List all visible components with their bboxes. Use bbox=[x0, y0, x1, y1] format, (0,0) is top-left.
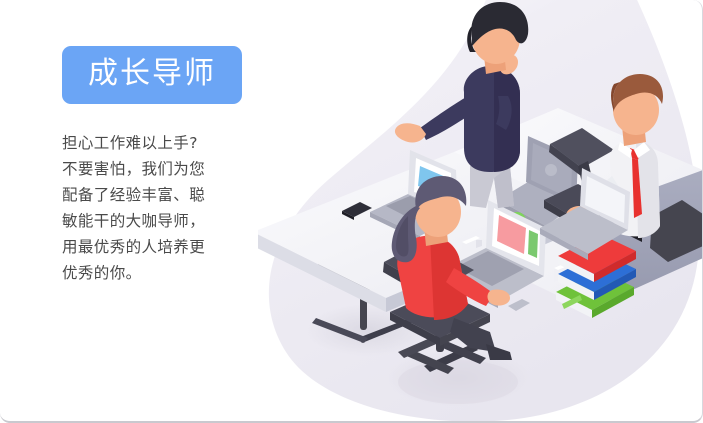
description-line: 担心工作难以上手? bbox=[62, 130, 247, 156]
description-line: 敏能干的大咖导师， bbox=[62, 208, 247, 234]
description-text: 担心工作难以上手? 不要害怕，我们为您 配备了经验丰富、聪 敏能干的大咖导师， … bbox=[62, 130, 247, 286]
promo-card: 成长导师 担心工作难以上手? 不要害怕，我们为您 配备了经验丰富、聪 敏能干的大… bbox=[0, 0, 703, 423]
description-line: 优秀的你。 bbox=[62, 260, 247, 286]
page-title-badge: 成长导师 bbox=[62, 46, 242, 104]
description-line: 用最优秀的人培养更 bbox=[62, 234, 247, 260]
illustration-isometric-office bbox=[258, 0, 703, 423]
text-column: 成长导师 担心工作难以上手? 不要害怕，我们为您 配备了经验丰富、聪 敏能干的大… bbox=[62, 46, 272, 286]
description-line: 配备了经验丰富、聪 bbox=[62, 182, 247, 208]
description-line: 不要害怕，我们为您 bbox=[62, 156, 247, 182]
